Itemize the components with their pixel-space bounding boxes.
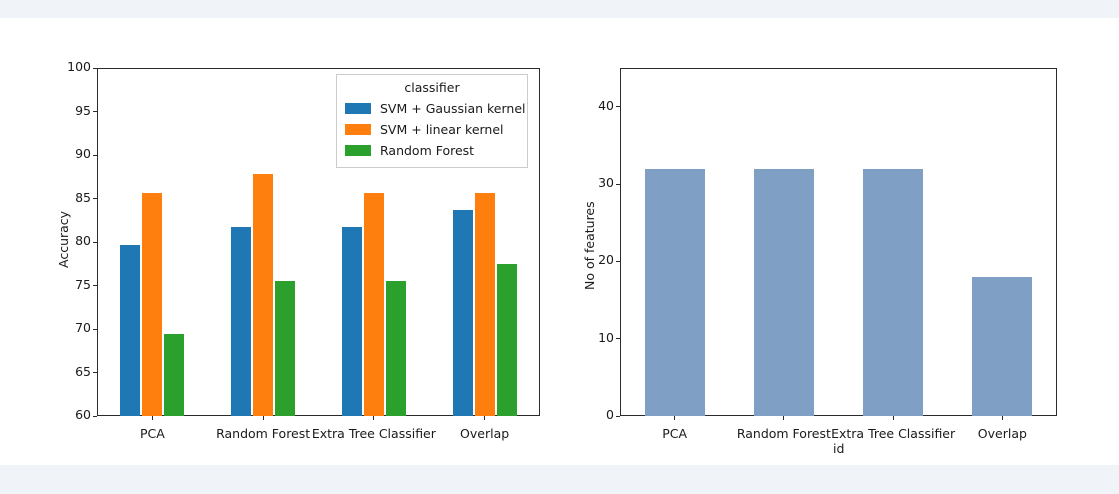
accuracy-bar	[475, 193, 495, 416]
features-bar	[972, 277, 1032, 416]
accuracy-bar	[120, 245, 140, 416]
features-x-tick-label: Overlap	[912, 426, 1092, 441]
features-x-tick-mark	[893, 416, 894, 420]
features-y-tick-label: 10	[572, 330, 614, 345]
accuracy-x-tick-mark	[152, 416, 153, 420]
accuracy-y-tick-label: 85	[49, 190, 91, 205]
accuracy-y-tick-mark	[93, 242, 97, 243]
accuracy-x-tick-label: Overlap	[395, 426, 575, 441]
chart-page: 6065707580859095100 PCARandom ForestExtr…	[0, 0, 1119, 494]
legend-item-label: SVM + linear kernel	[380, 122, 504, 137]
accuracy-y-tick-label: 65	[49, 364, 91, 379]
features-bar	[645, 169, 705, 416]
legend-title: classifier	[345, 80, 519, 95]
features-bar	[754, 169, 814, 416]
features-x-axis-title: id	[833, 441, 844, 456]
accuracy-bar	[342, 227, 362, 416]
legend-color-swatch	[345, 103, 371, 114]
accuracy-bar	[497, 264, 517, 416]
features-y-tick-mark	[616, 338, 620, 339]
accuracy-y-tick-mark	[93, 329, 97, 330]
accuracy-bar	[142, 193, 162, 416]
features-y-tick-mark	[616, 261, 620, 262]
accuracy-bar	[275, 281, 295, 416]
legend-item-label: SVM + Gaussian kernel	[380, 101, 526, 116]
accuracy-y-tick-mark	[93, 155, 97, 156]
features-bar	[863, 169, 923, 416]
legend-item-label: Random Forest	[380, 143, 474, 158]
accuracy-x-tick-mark	[373, 416, 374, 420]
accuracy-y-tick-label: 95	[49, 103, 91, 118]
accuracy-bar	[164, 334, 184, 416]
accuracy-y-tick-mark	[93, 416, 97, 417]
features-y-tick-mark	[616, 106, 620, 107]
legend-color-swatch	[345, 124, 371, 135]
features-y-tick-label: 40	[572, 98, 614, 113]
accuracy-bar	[364, 193, 384, 416]
accuracy-y-tick-mark	[93, 111, 97, 112]
accuracy-bar	[231, 227, 251, 416]
accuracy-chart: 6065707580859095100 PCARandom ForestExtr…	[0, 0, 560, 470]
accuracy-y-tick-label: 90	[49, 146, 91, 161]
accuracy-bar	[386, 281, 406, 416]
accuracy-y-tick-mark	[93, 68, 97, 69]
features-x-tick-mark	[674, 416, 675, 420]
legend-color-swatch	[345, 145, 371, 156]
accuracy-y-tick-label: 70	[49, 320, 91, 335]
accuracy-y-tick-mark	[93, 198, 97, 199]
features-chart: 010203040 PCARandom ForestExtra Tree Cla…	[560, 0, 1119, 470]
accuracy-bar	[453, 210, 473, 416]
accuracy-y-tick-label: 100	[49, 59, 91, 74]
accuracy-legend[interactable]: classifier SVM + Gaussian kernelSVM + li…	[336, 74, 528, 168]
features-y-tick-mark	[616, 416, 620, 417]
features-y-tick-mark	[616, 184, 620, 185]
accuracy-y-tick-label: 75	[49, 277, 91, 292]
accuracy-y-tick-mark	[93, 285, 97, 286]
features-x-tick-mark	[1002, 416, 1003, 420]
features-y-tick-label: 30	[572, 175, 614, 190]
features-x-tick-mark	[783, 416, 784, 420]
accuracy-bar	[253, 174, 273, 416]
accuracy-x-tick-mark	[484, 416, 485, 420]
legend-item[interactable]: Random Forest	[345, 140, 519, 161]
accuracy-y-tick-label: 60	[49, 407, 91, 422]
accuracy-y-axis-title: Accuracy	[56, 211, 71, 268]
legend-item[interactable]: SVM + linear kernel	[345, 119, 519, 140]
legend-item[interactable]: SVM + Gaussian kernel	[345, 98, 519, 119]
features-y-axis-title: No of features	[582, 201, 597, 290]
accuracy-y-tick-mark	[93, 372, 97, 373]
features-y-tick-label: 0	[572, 407, 614, 422]
accuracy-x-tick-mark	[263, 416, 264, 420]
